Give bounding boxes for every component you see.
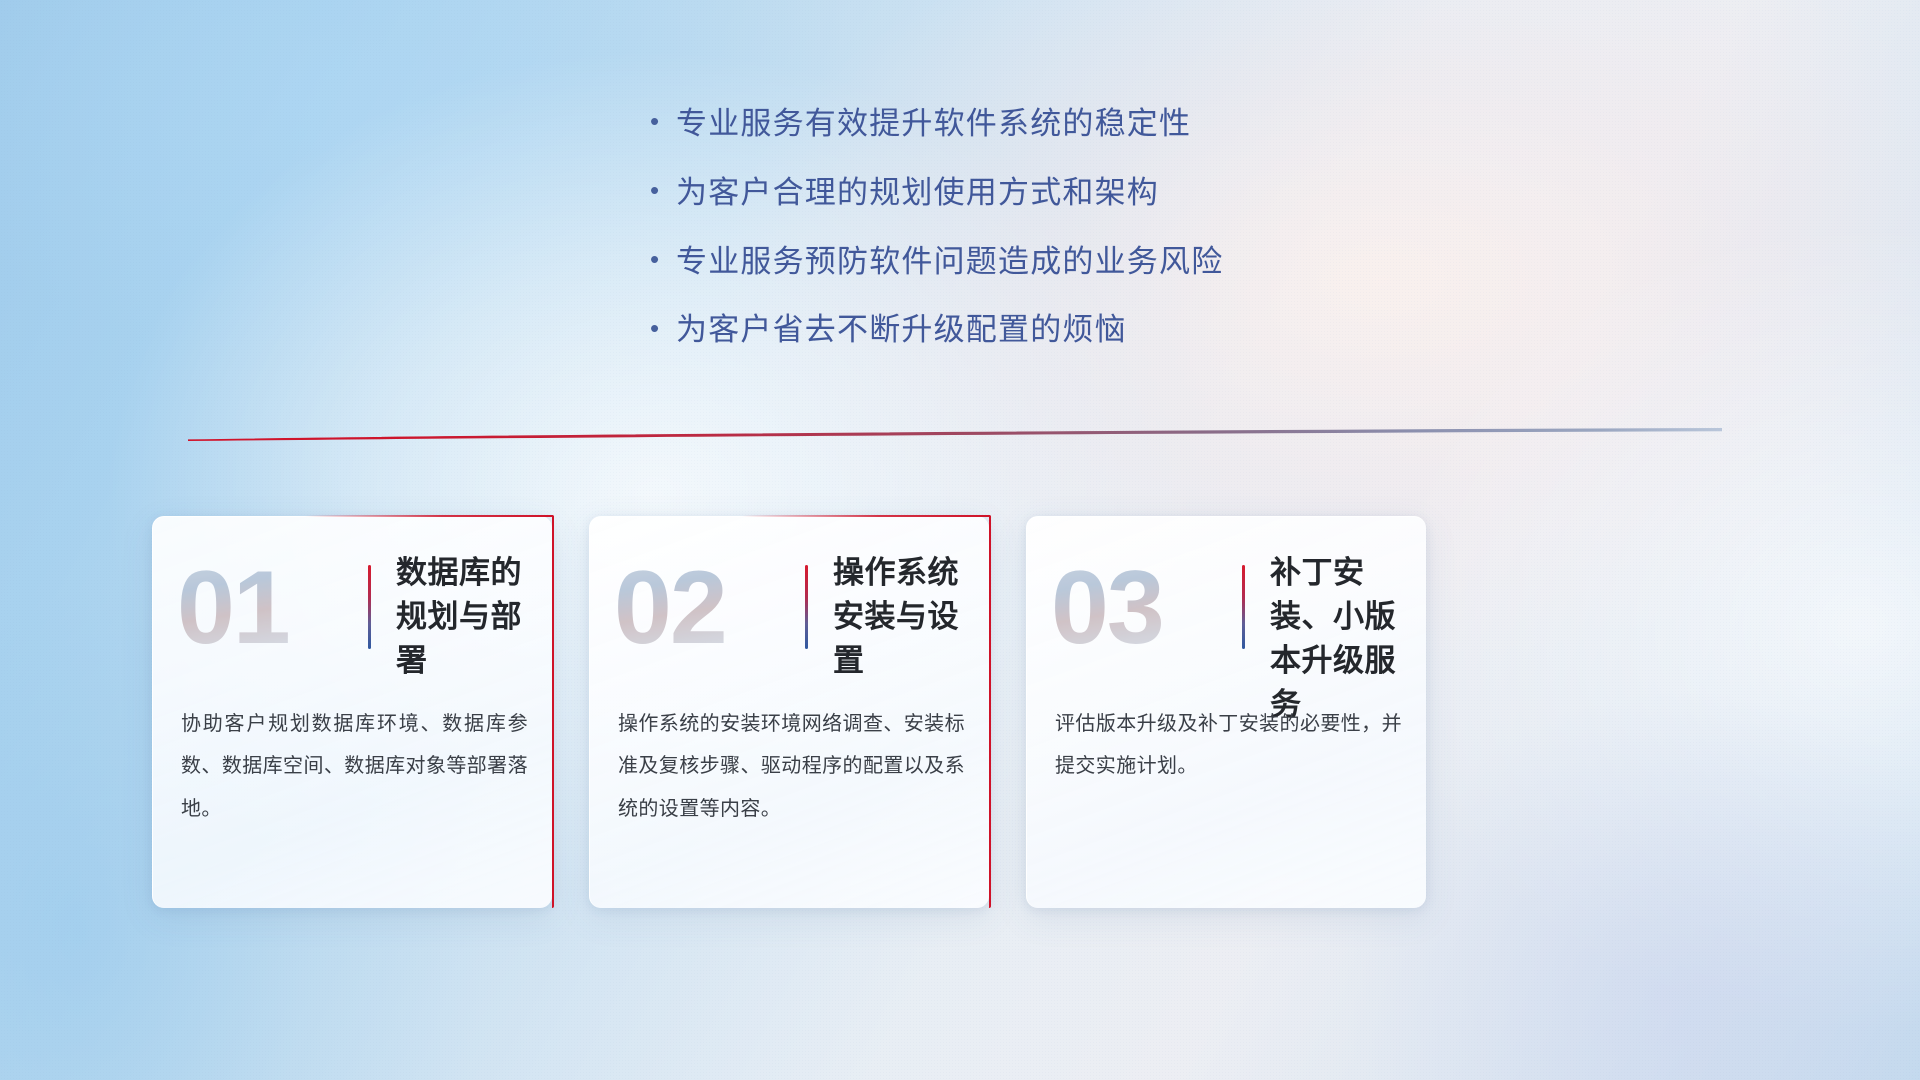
benefits-bullet-list: • 专业服务有效提升软件系统的稳定性 • 为客户合理的规划使用方式和架构 • 专… [650, 105, 1223, 350]
list-item: • 专业服务预防软件问题造成的业务风险 [650, 243, 1223, 282]
list-item: • 专业服务有效提升软件系统的稳定性 [650, 105, 1223, 144]
card-number-watermark-icon: 02 [614, 555, 764, 659]
bullet-dot-icon: • [650, 315, 676, 341]
section-divider [188, 428, 1722, 448]
card-title: 操作系统安装与设置 [833, 551, 973, 683]
card-header: 03 补丁安装、小版本升级服务 [1027, 517, 1426, 683]
bullet-dot-icon: • [650, 108, 676, 134]
card-accent-bar [1242, 565, 1245, 649]
slide-canvas: • 专业服务有效提升软件系统的稳定性 • 为客户合理的规划使用方式和架构 • 专… [0, 0, 1920, 1080]
card-description: 评估版本升级及补丁安装的必要性，并提交实施计划。 [1055, 703, 1402, 788]
list-item: • 为客户合理的规划使用方式和架构 [650, 174, 1223, 213]
service-card-row: 01 数据库的规划与部署 协助客户规划数据库环境、数据库参数、数据库空间、数据库… [152, 516, 1426, 908]
service-card[interactable]: 03 补丁安装、小版本升级服务 评估版本升级及补丁安装的必要性，并提交实施计划。 [1026, 516, 1426, 908]
card-title: 补丁安装、小版本升级服务 [1270, 551, 1410, 727]
card-accent-bar [805, 565, 808, 649]
card-header: 01 数据库的规划与部署 [153, 517, 552, 683]
bullet-text: 为客户合理的规划使用方式和架构 [676, 174, 1159, 213]
svg-text:03: 03 [1051, 555, 1163, 659]
card-title: 数据库的规划与部署 [396, 551, 536, 683]
bullet-dot-icon: • [650, 177, 676, 203]
card-number-watermark-icon: 03 [1051, 555, 1201, 659]
bullet-text: 为客户省去不断升级配置的烦恼 [676, 311, 1127, 350]
card-number-watermark-icon: 01 [177, 555, 327, 659]
card-description: 协助客户规划数据库环境、数据库参数、数据库空间、数据库对象等部署落地。 [181, 703, 528, 830]
card-accent-bar [368, 565, 371, 649]
bullet-text: 专业服务有效提升软件系统的稳定性 [676, 105, 1191, 144]
service-card[interactable]: 02 操作系统安装与设置 操作系统的安装环境网络调查、安装标准及复核步骤、驱动程… [589, 516, 989, 908]
svg-text:02: 02 [614, 555, 726, 659]
service-card[interactable]: 01 数据库的规划与部署 协助客户规划数据库环境、数据库参数、数据库空间、数据库… [152, 516, 552, 908]
bullet-dot-icon: • [650, 246, 676, 272]
card-description: 操作系统的安装环境网络调查、安装标准及复核步骤、驱动程序的配置以及系统的设置等内… [618, 703, 965, 830]
card-header: 02 操作系统安装与设置 [590, 517, 989, 683]
bullet-text: 专业服务预防软件问题造成的业务风险 [676, 243, 1223, 282]
svg-text:01: 01 [177, 555, 289, 659]
list-item: • 为客户省去不断升级配置的烦恼 [650, 311, 1223, 350]
